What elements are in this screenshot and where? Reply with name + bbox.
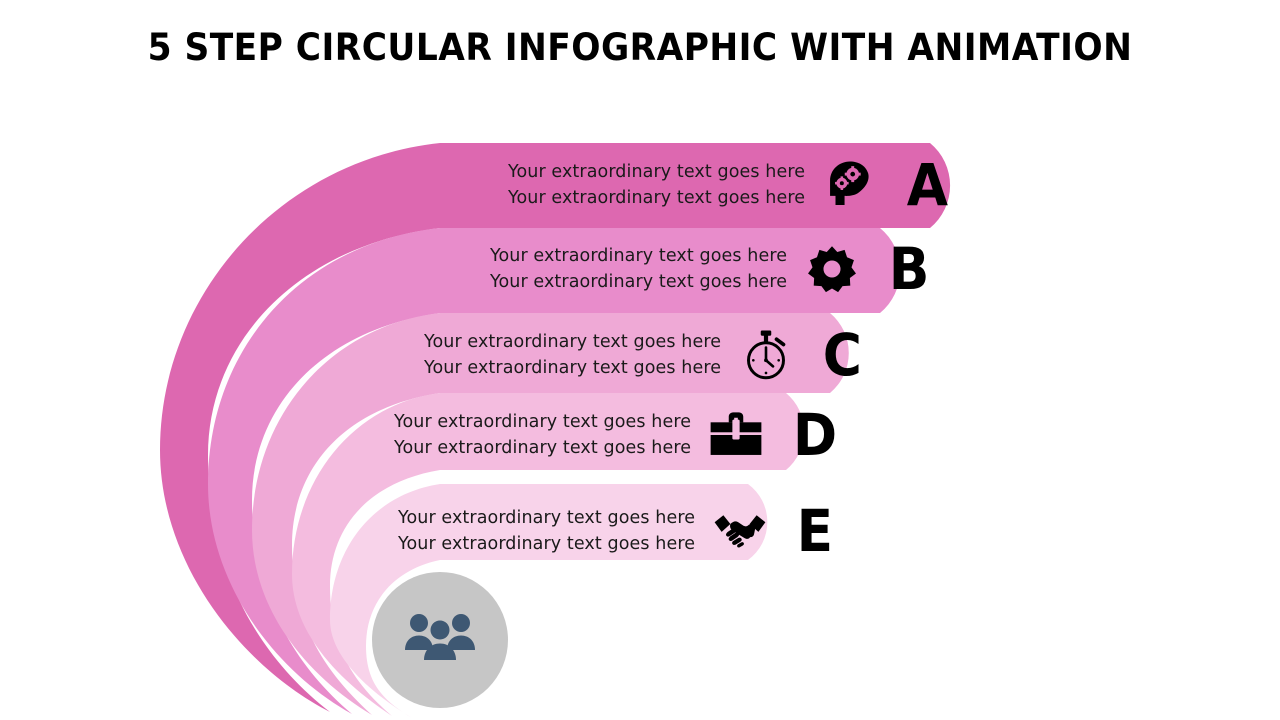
step-a-line1: Your extraordinary text goes here — [508, 159, 805, 185]
step-row-b[interactable]: Your extraordinary text goes here Your e… — [490, 234, 931, 304]
step-c-text: Your extraordinary text goes here Your e… — [424, 329, 721, 381]
step-d-line2: Your extraordinary text goes here — [394, 435, 691, 461]
step-b-line1: Your extraordinary text goes here — [490, 243, 787, 269]
step-c-line1: Your extraordinary text goes here — [424, 329, 721, 355]
step-b-text: Your extraordinary text goes here Your e… — [490, 243, 787, 295]
step-d-text: Your extraordinary text goes here Your e… — [394, 409, 691, 461]
step-e-line2: Your extraordinary text goes here — [398, 531, 695, 557]
head-with-gears-icon — [821, 156, 879, 214]
stopwatch-icon — [737, 326, 795, 384]
step-b-letter: B — [889, 240, 930, 298]
step-row-a[interactable]: Your extraordinary text goes here Your e… — [508, 150, 950, 220]
briefcase-icon — [707, 406, 765, 464]
step-row-c[interactable]: Your extraordinary text goes here Your e… — [424, 320, 864, 390]
step-c-line2: Your extraordinary text goes here — [424, 355, 721, 381]
step-b-line2: Your extraordinary text goes here — [490, 269, 787, 295]
center-circle[interactable] — [372, 572, 508, 708]
gear-icon — [803, 240, 861, 298]
step-a-letter: A — [907, 156, 948, 214]
group-of-people-icon — [403, 610, 477, 670]
step-c-letter: C — [823, 326, 862, 384]
step-d-line1: Your extraordinary text goes here — [394, 409, 691, 435]
step-row-e[interactable]: Your extraordinary text goes here Your e… — [398, 496, 835, 566]
step-a-text: Your extraordinary text goes here Your e… — [508, 159, 805, 211]
infographic-diagram: Your extraordinary text goes here Your e… — [0, 0, 1280, 720]
step-e-line1: Your extraordinary text goes here — [398, 505, 695, 531]
step-a-line2: Your extraordinary text goes here — [508, 185, 805, 211]
step-row-d[interactable]: Your extraordinary text goes here Your e… — [394, 400, 839, 470]
step-e-letter: E — [797, 502, 833, 560]
handshake-icon — [711, 502, 769, 560]
step-e-text: Your extraordinary text goes here Your e… — [398, 505, 695, 557]
step-d-letter: D — [793, 406, 837, 464]
